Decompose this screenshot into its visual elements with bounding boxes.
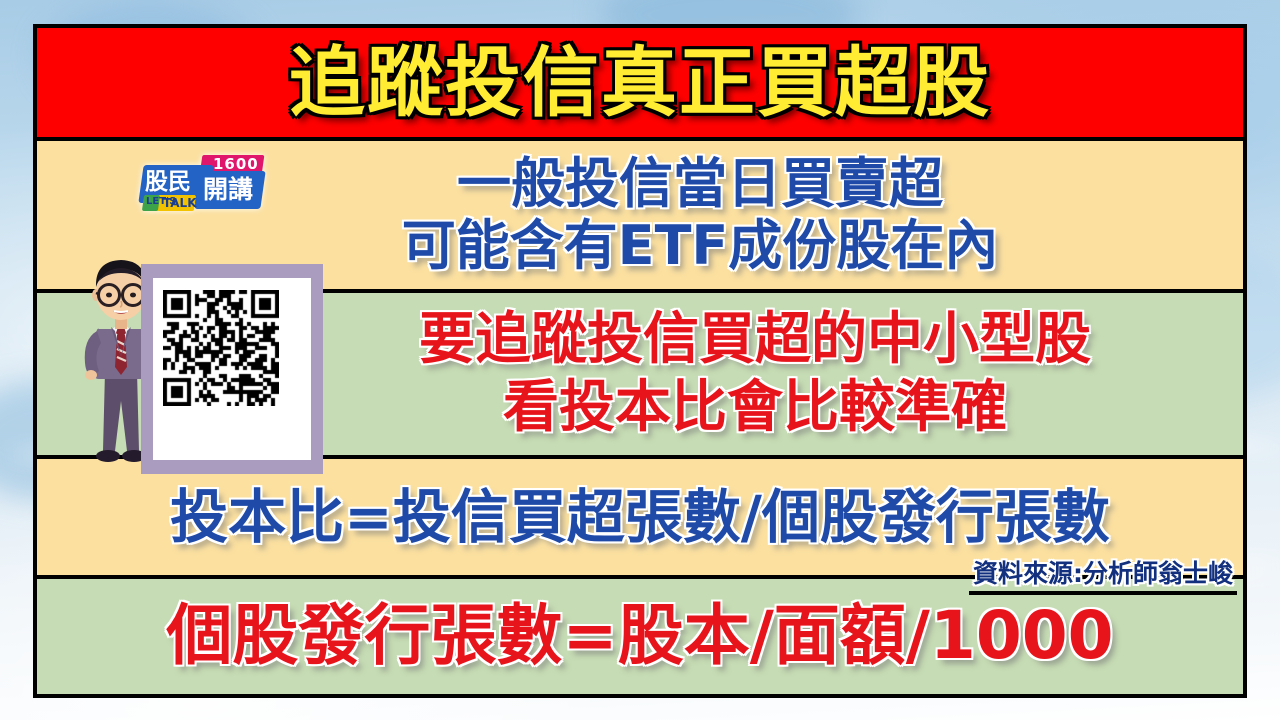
show-logo-name-part1: 股民 bbox=[145, 171, 191, 194]
source-attribution: 資料來源:分析師翁士峻 bbox=[969, 554, 1237, 595]
show-logo-name-part2: 開講 bbox=[203, 177, 253, 202]
row-1-line-2: 可能含有ETF成份股在內 bbox=[402, 218, 999, 274]
qr-code-frame bbox=[141, 264, 323, 474]
row-1-content: 一般投信當日買賣超 可能含有ETF成份股在內 bbox=[402, 156, 999, 274]
show-logo-talk: TALK bbox=[163, 197, 197, 209]
row-3-line-1: 投本比=投信買超張數/個股發行張數 bbox=[170, 487, 1110, 547]
show-logo-number: 1600 bbox=[213, 157, 259, 172]
row-4-band: 個股發行張數=股本/面額/1000 bbox=[37, 579, 1243, 694]
infographic-card: 追蹤投信真正買超股 一般投信當日買賣超 可能含有ETF成份股在內 要追蹤投信買超… bbox=[33, 24, 1247, 698]
row-1-line-1: 一般投信當日買賣超 bbox=[402, 156, 999, 212]
page-title: 追蹤投信真正買超股 bbox=[289, 45, 991, 121]
row-4-line-1: 個股發行張數=股本/面額/1000 bbox=[166, 602, 1113, 671]
row-2-line-1: 要追蹤投信買超的中小型股 bbox=[419, 311, 1091, 369]
row-2-content: 要追蹤投信買超的中小型股 看投本比會比較準確 bbox=[419, 311, 1091, 437]
qr-code bbox=[163, 290, 279, 406]
title-band: 追蹤投信真正買超股 bbox=[37, 28, 1243, 141]
qr-code-background bbox=[153, 278, 311, 460]
row-2-line-2: 看投本比會比較準確 bbox=[419, 379, 1091, 437]
show-logo: 1600 股民 開講 LET'S TALK bbox=[141, 155, 263, 213]
